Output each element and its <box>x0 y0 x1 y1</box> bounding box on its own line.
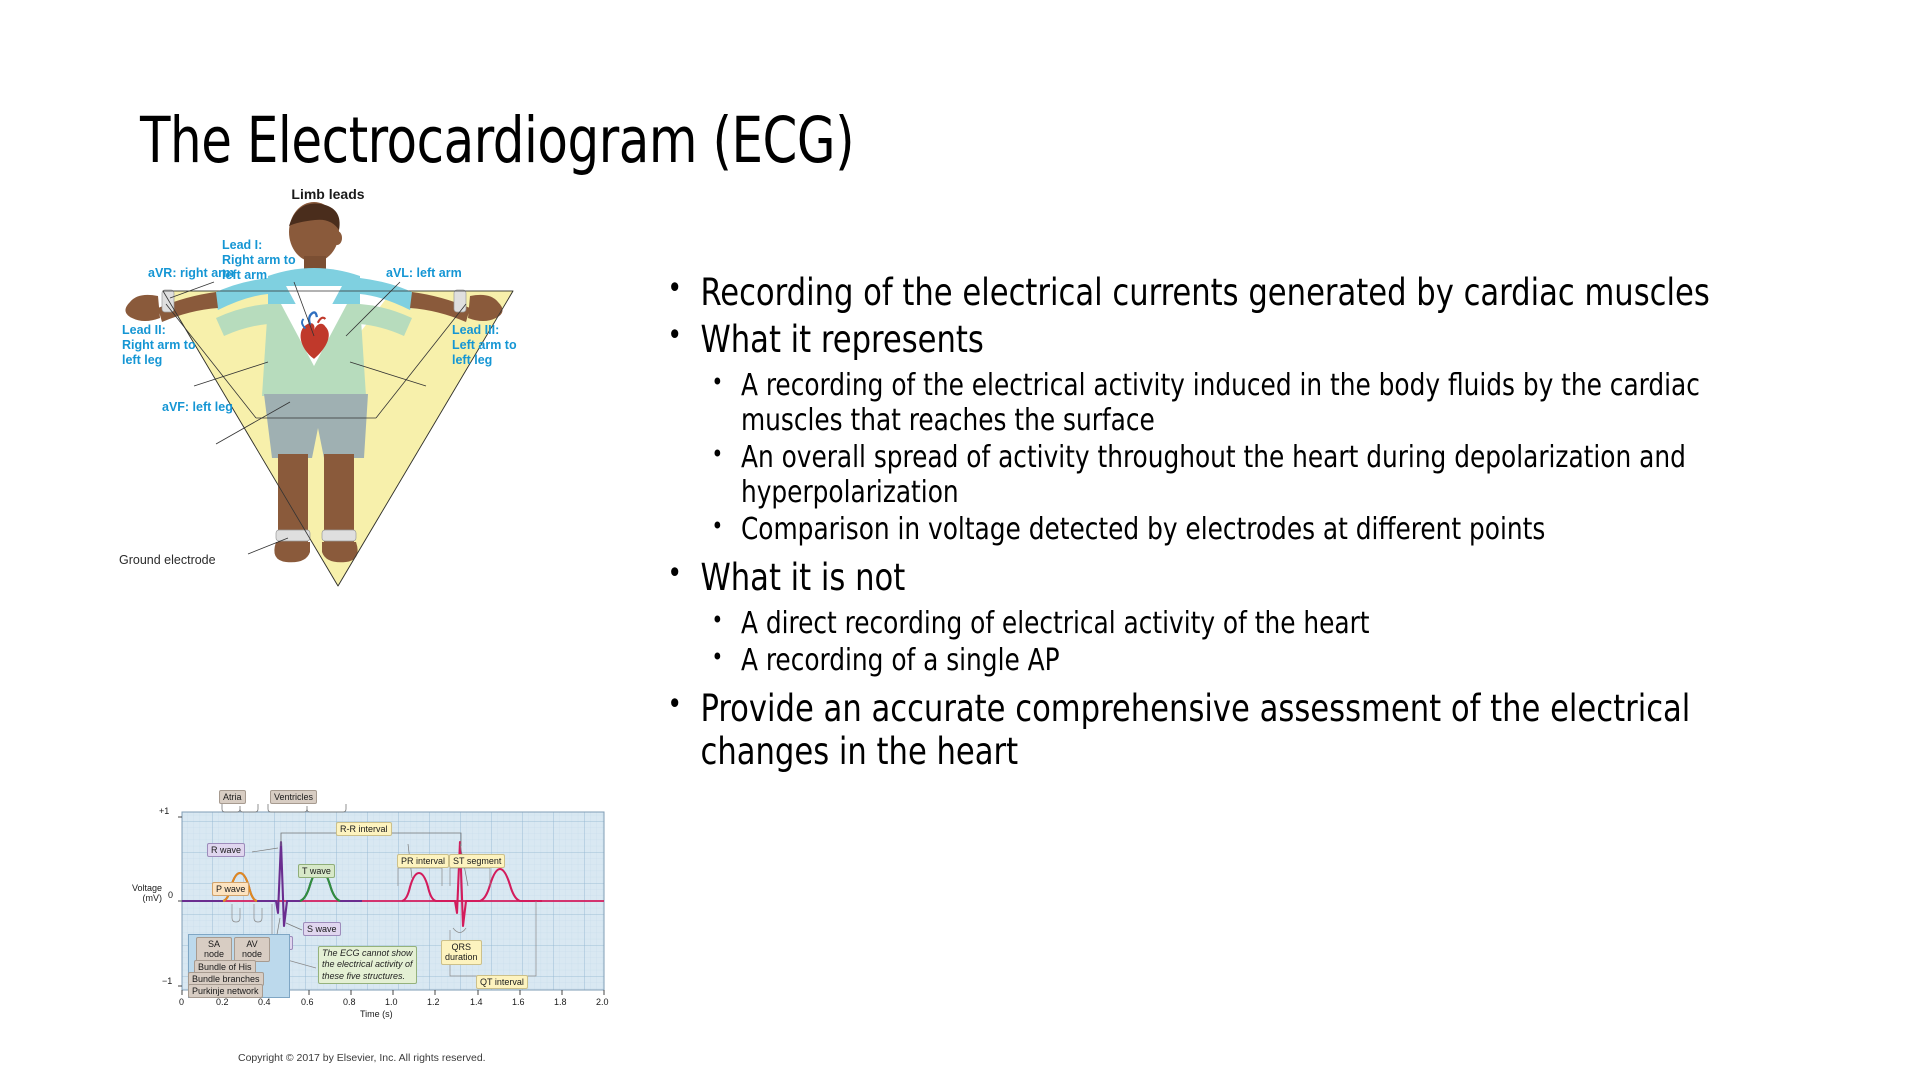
tag-qt-interval: QT interval <box>476 975 528 989</box>
ecg-y-axis-label: Voltage (mV) <box>122 883 162 903</box>
tag-ecg-note: The ECG cannot show the electrical activ… <box>318 946 417 984</box>
figure-limb-leads: Limb leads <box>118 186 538 616</box>
ecg-xtick-9: 1.8 <box>554 997 567 1007</box>
bullet-what-it-is-not: What it is not A direct recording of ele… <box>660 557 1727 678</box>
tag-t-wave: T wave <box>298 864 335 878</box>
ecg-xtick-5: 1.0 <box>385 997 398 1007</box>
label-lead-II: Lead II: Right arm to left leg <box>122 323 196 367</box>
label-lead-III: Lead III: Left arm to left leg <box>452 323 517 367</box>
sub-bullet: An overall spread of activity throughout… <box>700 440 1727 510</box>
bullet-recording-of-currents: Recording of the electrical currents gen… <box>660 272 1727 315</box>
ecg-xtick-7: 1.4 <box>470 997 483 1007</box>
tag-r-wave: R wave <box>207 843 245 857</box>
copyright-notice: Copyright © 2017 by Elsevier, Inc. All r… <box>238 1052 486 1064</box>
tag-rr-interval: R-R interval <box>336 822 392 836</box>
tag-p-wave: P wave <box>212 882 249 896</box>
sub-bullet: Comparison in voltage detected by electr… <box>700 512 1727 547</box>
sub-bullet: A direct recording of electrical activit… <box>700 606 1727 641</box>
content-body: Recording of the electrical currents gen… <box>660 272 1820 778</box>
tag-s-wave: S wave <box>303 922 341 936</box>
slide-canvas: The Electrocardiogram (ECG) Limb leads <box>0 0 1920 1080</box>
bullet-text: Recording of the electrical currents gen… <box>700 272 1727 315</box>
label-avf: aVF: left leg <box>162 400 233 415</box>
ecg-xtick-2: 0.4 <box>258 997 271 1007</box>
ecg-xtick-10: 2.0 <box>596 997 609 1007</box>
sub-bullet: A recording of the electrical activity i… <box>700 368 1727 438</box>
bullet-list-level2: A direct recording of electrical activit… <box>700 606 1727 678</box>
label-ground-electrode: Ground electrode <box>119 553 216 567</box>
tag-purkinje-network: Purkinje network <box>188 984 263 998</box>
tag-qrs-duration: QRS duration <box>441 940 482 965</box>
tag-av-node: AV node <box>234 937 270 962</box>
ecg-xtick-3: 0.6 <box>301 997 314 1007</box>
tag-atria: Atria <box>219 790 246 804</box>
tag-pr-interval: PR interval <box>397 854 449 868</box>
ecg-xtick-8: 1.6 <box>512 997 525 1007</box>
bullet-text: What it represents <box>700 319 1727 362</box>
ecg-ytick-zero: 0 <box>168 890 173 900</box>
bullet-list-level1: Recording of the electrical currents gen… <box>660 272 1820 774</box>
tag-sa-node: SA node <box>196 937 232 962</box>
ecg-xtick-6: 1.2 <box>427 997 440 1007</box>
bullet-text: Provide an accurate comprehensive assess… <box>700 688 1727 774</box>
label-avr: aVR: right arm <box>148 266 234 281</box>
ecg-x-axis-label: Time (s) <box>360 1009 393 1019</box>
ecg-xtick-4: 0.8 <box>343 997 356 1007</box>
label-avl: aVL: left arm <box>386 266 462 281</box>
page-title: The Electrocardiogram (ECG) <box>140 108 854 174</box>
ecg-ytick-plus1: +1 <box>159 806 169 816</box>
ecg-xtick-0: 0 <box>179 997 184 1007</box>
ecg-ytick-minus1: −1 <box>162 976 172 986</box>
ecg-xtick-1: 0.2 <box>216 997 229 1007</box>
figure-ecg-trace: +1 0 −1 Voltage (mV) 0 0.2 0.4 0.6 0.8 1… <box>150 790 640 1035</box>
bullet-list-level2: A recording of the electrical activity i… <box>700 368 1727 547</box>
bullet-provide-assessment: Provide an accurate comprehensive assess… <box>660 688 1727 774</box>
sub-bullet: A recording of a single AP <box>700 643 1727 678</box>
bullet-what-it-represents: What it represents A recording of the el… <box>660 319 1727 547</box>
tag-ventricles: Ventricles <box>270 790 317 804</box>
bullet-text: What it is not <box>700 557 1727 600</box>
tag-st-segment: ST segment <box>449 854 505 868</box>
